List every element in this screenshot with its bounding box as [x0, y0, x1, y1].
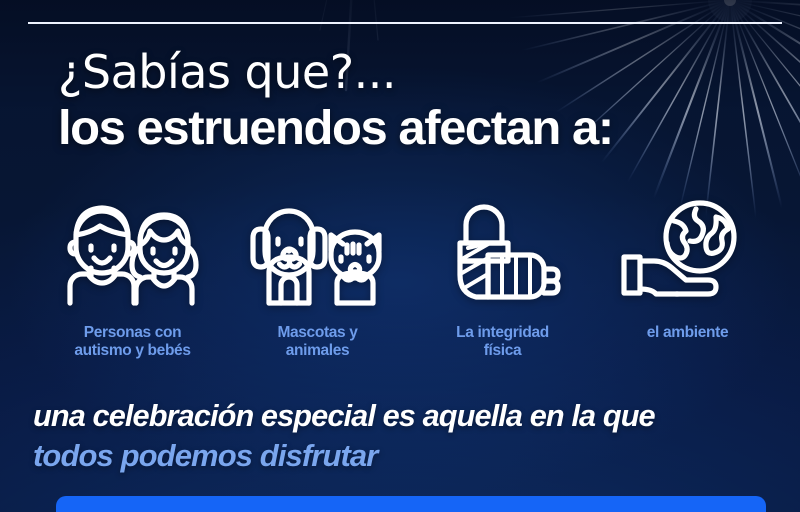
accent-bar	[56, 496, 766, 512]
hand-holding-globe-icon	[618, 192, 758, 310]
category-label-autism: Personas con autismo y bebés	[74, 324, 190, 361]
category-label-physical: La integridad física	[456, 324, 549, 361]
infographic-poster: ¿Sabías que?... los estruendos afectan a…	[0, 0, 800, 512]
category-item-autism: Personas con autismo y bebés	[40, 192, 225, 361]
heading-block: ¿Sabías que?... los estruendos afectan a…	[58, 48, 758, 155]
tagline-block: una celebración especial es aquella en l…	[33, 396, 773, 475]
children-autism-icon	[58, 192, 208, 310]
category-label-pets: Mascotas y animales	[277, 324, 357, 361]
tagline-line-1: una celebración especial es aquella en l…	[33, 396, 766, 436]
category-item-environment: el ambiente	[595, 192, 780, 342]
dog-cat-pets-icon	[243, 192, 393, 310]
tagline-line-2: todos podemos disfrutar	[33, 436, 773, 476]
top-divider-rule	[28, 22, 782, 24]
category-item-physical: La integridad física	[410, 192, 595, 361]
category-item-pets: Mascotas y animales	[225, 192, 410, 361]
bandaged-leg-icon	[438, 192, 568, 310]
category-label-environment: el ambiente	[647, 324, 728, 342]
heading-line-2: los estruendos afectan a:	[58, 102, 772, 156]
heading-line-1: ¿Sabías que?...	[58, 48, 758, 98]
category-row: Personas con autismo y bebés	[40, 192, 780, 361]
